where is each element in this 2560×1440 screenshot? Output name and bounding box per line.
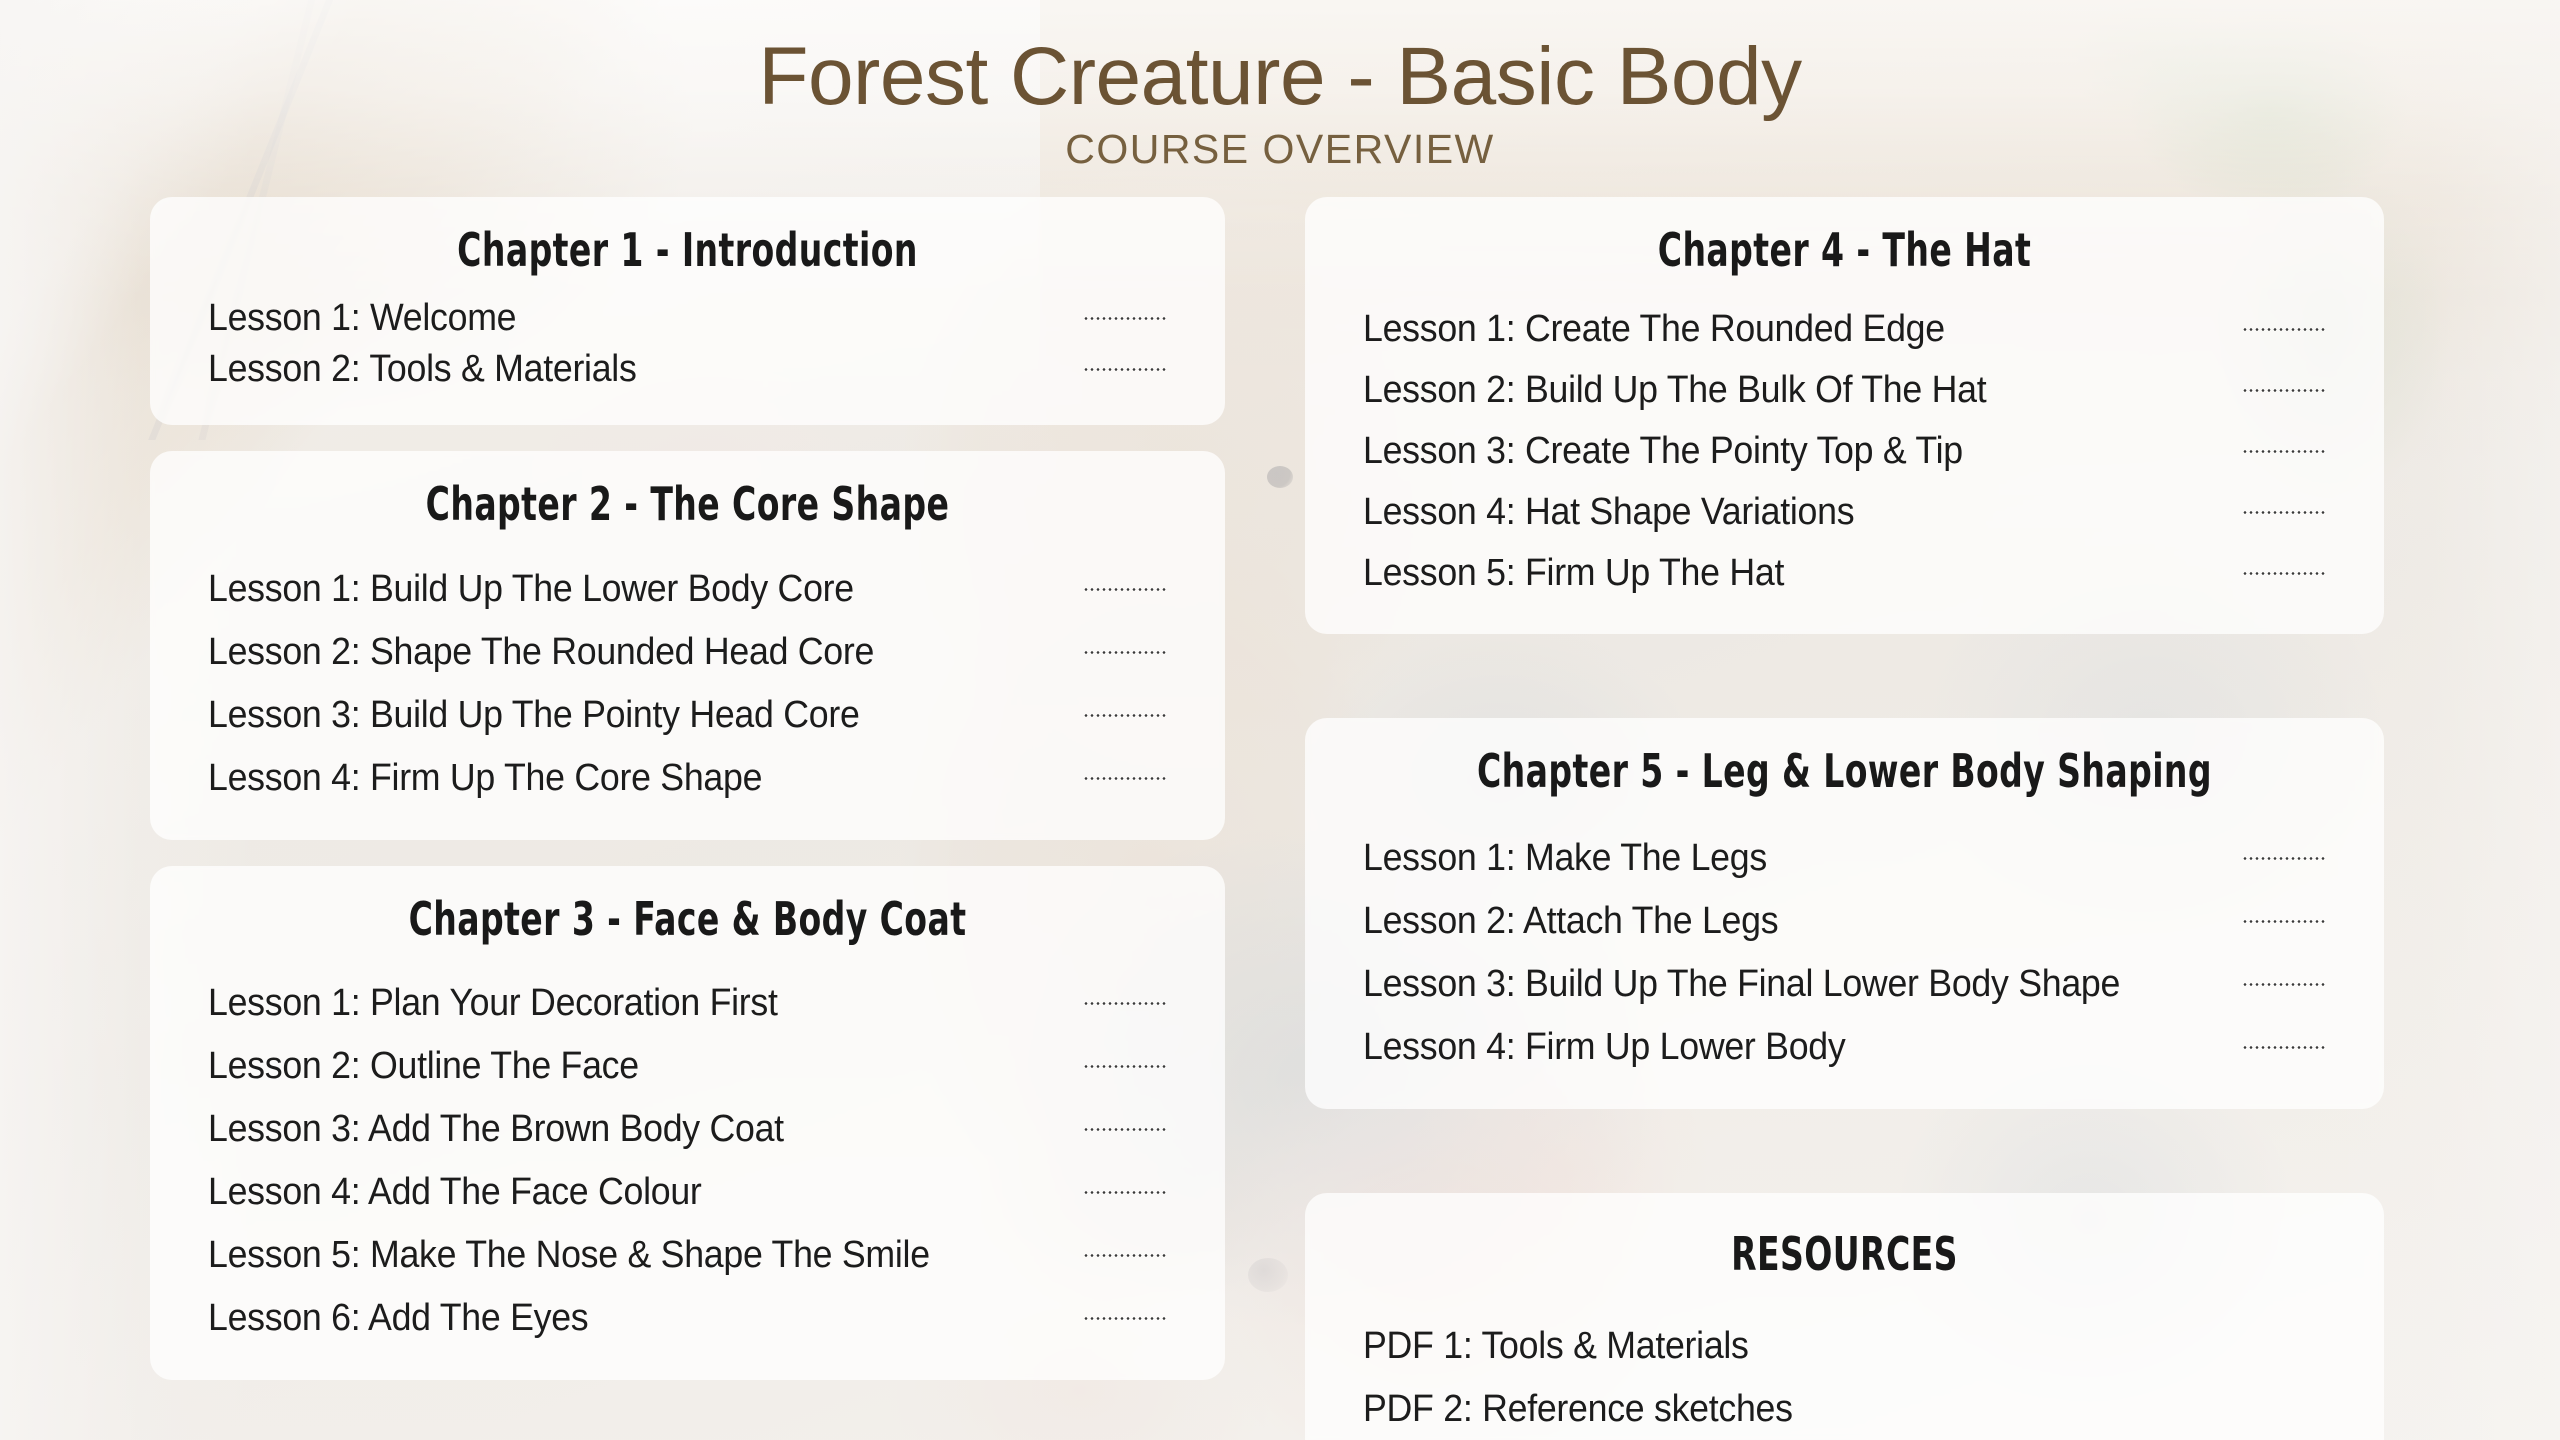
resource-row[interactable]: PDF 1: Tools & Materials	[1363, 1315, 2326, 1378]
lesson-row[interactable]: Lesson 3: Build Up The Final Lower Body …	[1363, 953, 2326, 1016]
resources-title: RESOURCES	[1459, 1227, 2229, 1281]
lesson-row[interactable]: Lesson 4: Add The Face Colour	[208, 1161, 1167, 1224]
lesson-row[interactable]: Lesson 3: Build Up The Pointy Head Core	[208, 684, 1167, 747]
dotted-leader-icon	[1083, 587, 1167, 592]
lesson-row[interactable]: Lesson 3: Add The Brown Body Coat	[208, 1098, 1167, 1161]
dotted-leader-icon	[1083, 316, 1167, 321]
left-column: Chapter 1 - Introduction Lesson 1: Welco…	[150, 197, 1225, 1380]
resource-row[interactable]: PDF 2: Reference sketches	[1363, 1378, 2326, 1440]
lesson-row[interactable]: Lesson 2: Build Up The Bulk Of The Hat	[1363, 360, 2326, 421]
lesson-label: Lesson 2: Attach The Legs	[1363, 900, 1778, 943]
lesson-row[interactable]: Lesson 2: Tools & Materials	[208, 344, 1167, 395]
lesson-list: Lesson 1: Build Up The Lower Body Core L…	[208, 558, 1167, 810]
lesson-row[interactable]: Lesson 4: Hat Shape Variations	[1363, 482, 2326, 543]
chapter-card-chapter-5[interactable]: Chapter 5 - Leg & Lower Body Shaping Les…	[1305, 718, 2384, 1108]
lesson-label: Lesson 6: Add The Eyes	[208, 1297, 588, 1340]
lesson-label: Lesson 1: Plan Your Decoration First	[208, 982, 778, 1025]
lesson-label: Lesson 4: Firm Up The Core Shape	[208, 757, 762, 800]
lesson-list: Lesson 1: Plan Your Decoration First Les…	[208, 972, 1167, 1350]
lesson-row[interactable]: Lesson 2: Outline The Face	[208, 1035, 1167, 1098]
page-subtitle: COURSE OVERVIEW	[0, 126, 2560, 173]
lesson-row[interactable]: Lesson 1: Make The Legs	[1363, 827, 2326, 890]
lesson-label: Lesson 2: Tools & Materials	[208, 348, 637, 391]
lesson-label: Lesson 4: Firm Up Lower Body	[1363, 1026, 1845, 1069]
lesson-label: Lesson 4: Add The Face Colour	[208, 1171, 702, 1214]
dotted-leader-icon	[2242, 982, 2326, 987]
dotted-leader-icon	[1083, 1064, 1167, 1069]
dotted-leader-icon	[1083, 367, 1167, 372]
right-column: Chapter 4 - The Hat Lesson 1: Create The…	[1305, 197, 2384, 1440]
chapter-title: Chapter 5 - Leg & Lower Body Shaping	[1459, 744, 2229, 798]
lesson-row[interactable]: Lesson 6: Add The Eyes	[208, 1287, 1167, 1350]
resource-label: PDF 1: Tools & Materials	[1363, 1325, 1749, 1368]
lesson-row[interactable]: Lesson 5: Firm Up The Hat	[1363, 543, 2326, 604]
chapter-title: Chapter 3 - Face & Body Coat	[304, 892, 1071, 946]
dotted-leader-icon	[2242, 1045, 2326, 1050]
dotted-leader-icon	[2242, 388, 2326, 393]
lesson-row[interactable]: Lesson 2: Shape The Rounded Head Core	[208, 621, 1167, 684]
dotted-leader-icon	[2242, 510, 2326, 515]
lesson-label: Lesson 1: Create The Rounded Edge	[1363, 308, 1945, 351]
chapter-columns: Chapter 1 - Introduction Lesson 1: Welco…	[0, 197, 2560, 1440]
lesson-label: Lesson 4: Hat Shape Variations	[1363, 491, 1854, 534]
lesson-label: Lesson 2: Outline The Face	[208, 1045, 639, 1088]
dotted-leader-icon	[2242, 327, 2326, 332]
page-title: Forest Creature - Basic Body	[0, 34, 2560, 120]
chapter-card-chapter-1[interactable]: Chapter 1 - Introduction Lesson 1: Welco…	[150, 197, 1225, 425]
lesson-row[interactable]: Lesson 3: Create The Pointy Top & Tip	[1363, 421, 2326, 482]
lesson-label: Lesson 1: Make The Legs	[1363, 837, 1767, 880]
chapter-card-chapter-4[interactable]: Chapter 4 - The Hat Lesson 1: Create The…	[1305, 197, 2384, 634]
dotted-leader-icon	[2242, 919, 2326, 924]
lesson-label: Lesson 3: Build Up The Pointy Head Core	[208, 694, 860, 737]
lesson-label: Lesson 3: Add The Brown Body Coat	[208, 1108, 784, 1151]
resource-label: PDF 2: Reference sketches	[1363, 1388, 1793, 1431]
lesson-row[interactable]: Lesson 2: Attach The Legs	[1363, 890, 2326, 953]
lesson-label: Lesson 2: Build Up The Bulk Of The Hat	[1363, 369, 1986, 412]
lesson-row[interactable]: Lesson 1: Create The Rounded Edge	[1363, 299, 2326, 360]
lesson-row[interactable]: Lesson 1: Build Up The Lower Body Core	[208, 558, 1167, 621]
chapter-title: Chapter 2 - The Core Shape	[304, 477, 1071, 531]
dotted-leader-icon	[2242, 571, 2326, 576]
chapter-title: Chapter 1 - Introduction	[304, 223, 1071, 277]
lesson-label: Lesson 2: Shape The Rounded Head Core	[208, 631, 874, 674]
lesson-row[interactable]: Lesson 4: Firm Up The Core Shape	[208, 747, 1167, 810]
lesson-row[interactable]: Lesson 1: Plan Your Decoration First	[208, 972, 1167, 1035]
lesson-row[interactable]: Lesson 5: Make The Nose & Shape The Smil…	[208, 1224, 1167, 1287]
lesson-row[interactable]: Lesson 4: Firm Up Lower Body	[1363, 1016, 2326, 1079]
lesson-list: Lesson 1: Make The Legs Lesson 2: Attach…	[1363, 827, 2326, 1079]
dotted-leader-icon	[1083, 1316, 1167, 1321]
dotted-leader-icon	[1083, 713, 1167, 718]
resource-list: PDF 1: Tools & Materials PDF 2: Referenc…	[1363, 1315, 2326, 1440]
dotted-leader-icon	[1083, 650, 1167, 655]
lesson-row[interactable]: Lesson 1: Welcome	[208, 293, 1167, 344]
lesson-label: Lesson 3: Create The Pointy Top & Tip	[1363, 430, 1963, 473]
chapter-card-chapter-3[interactable]: Chapter 3 - Face & Body Coat Lesson 1: P…	[150, 866, 1225, 1380]
chapter-title: Chapter 4 - The Hat	[1459, 223, 2229, 277]
lesson-label: Lesson 5: Make The Nose & Shape The Smil…	[208, 1234, 930, 1277]
lesson-label: Lesson 1: Welcome	[208, 297, 516, 340]
chapter-card-chapter-2[interactable]: Chapter 2 - The Core Shape Lesson 1: Bui…	[150, 451, 1225, 839]
dotted-leader-icon	[1083, 1253, 1167, 1258]
lesson-list: Lesson 1: Welcome Lesson 2: Tools & Mate…	[208, 291, 1167, 395]
lesson-list: Lesson 1: Create The Rounded Edge Lesson…	[1363, 299, 2326, 604]
dotted-leader-icon	[2242, 449, 2326, 454]
dotted-leader-icon	[1083, 1001, 1167, 1006]
resources-card[interactable]: RESOURCES PDF 1: Tools & Materials PDF 2…	[1305, 1193, 2384, 1440]
dotted-leader-icon	[2242, 856, 2326, 861]
lesson-label: Lesson 5: Firm Up The Hat	[1363, 552, 1784, 595]
dotted-leader-icon	[1083, 776, 1167, 781]
dotted-leader-icon	[1083, 1190, 1167, 1195]
course-header: Forest Creature - Basic Body COURSE OVER…	[0, 0, 2560, 173]
lesson-label: Lesson 3: Build Up The Final Lower Body …	[1363, 963, 2120, 1006]
lesson-label: Lesson 1: Build Up The Lower Body Core	[208, 568, 854, 611]
dotted-leader-icon	[1083, 1127, 1167, 1132]
course-overview-page: Forest Creature - Basic Body COURSE OVER…	[0, 0, 2560, 1440]
